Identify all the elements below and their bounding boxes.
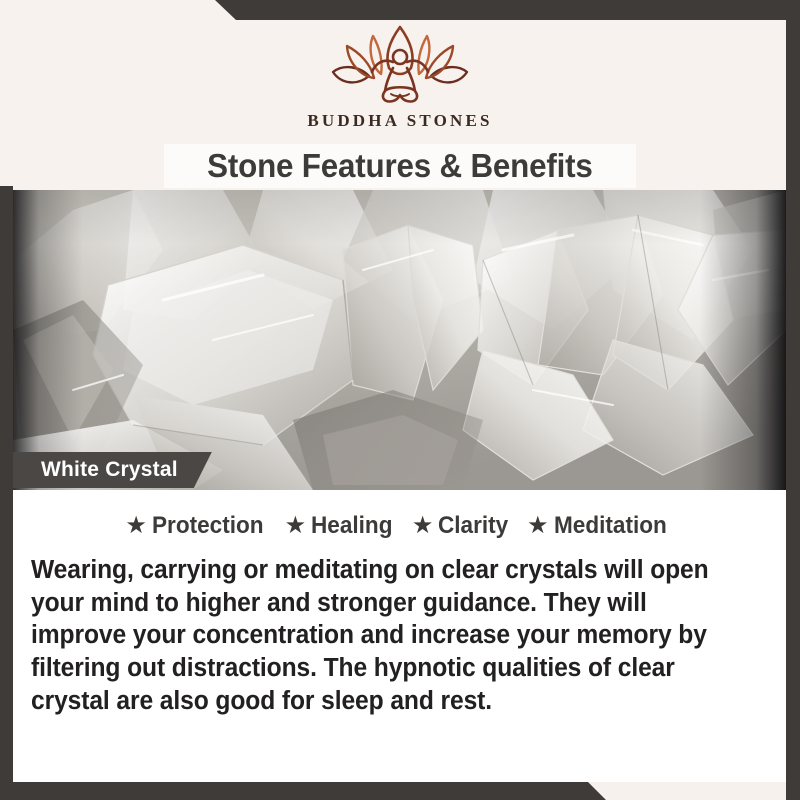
benefit-label: Healing xyxy=(311,512,392,540)
content-panel: ★ Protection ★ Healing ★ Clarity ★ Medit… xyxy=(13,490,786,782)
benefit-item-protection: ★ Protection xyxy=(125,512,270,540)
benefit-item-healing: ★ Healing xyxy=(285,512,398,540)
lotus-meditation-icon xyxy=(325,24,475,106)
brand-name: BUDDHA STONES xyxy=(0,111,800,131)
page-title: Stone Features & Benefits xyxy=(207,147,592,185)
stone-benefits-infographic: BUDDHA STONES Stone Features & Benefits xyxy=(0,0,800,800)
benefit-label: Clarity xyxy=(438,512,508,540)
stone-name-badge: White Crystal xyxy=(13,452,212,488)
benefit-item-meditation: ★ Meditation xyxy=(527,512,674,540)
benefit-item-clarity: ★ Clarity xyxy=(412,512,513,540)
star-icon: ★ xyxy=(527,514,549,538)
benefit-label: Protection xyxy=(152,512,264,540)
benefits-list: ★ Protection ★ Healing ★ Clarity ★ Medit… xyxy=(13,512,786,540)
brand-logo: BUDDHA STONES xyxy=(0,24,800,131)
star-icon: ★ xyxy=(412,514,434,538)
page-title-band: Stone Features & Benefits xyxy=(164,144,636,188)
frame-right-bar xyxy=(786,0,800,800)
crystal-cluster-image xyxy=(13,190,786,490)
stone-description: Wearing, carrying or meditating on clear… xyxy=(31,554,740,717)
frame-left-bar xyxy=(0,186,13,800)
benefit-label: Meditation xyxy=(554,512,667,540)
frame-bottom-bar xyxy=(0,782,800,800)
star-icon: ★ xyxy=(285,514,307,538)
header-section: BUDDHA STONES Stone Features & Benefits xyxy=(0,0,800,190)
stone-name: White Crystal xyxy=(41,458,178,482)
stone-photo xyxy=(13,190,786,490)
star-icon: ★ xyxy=(125,514,147,538)
